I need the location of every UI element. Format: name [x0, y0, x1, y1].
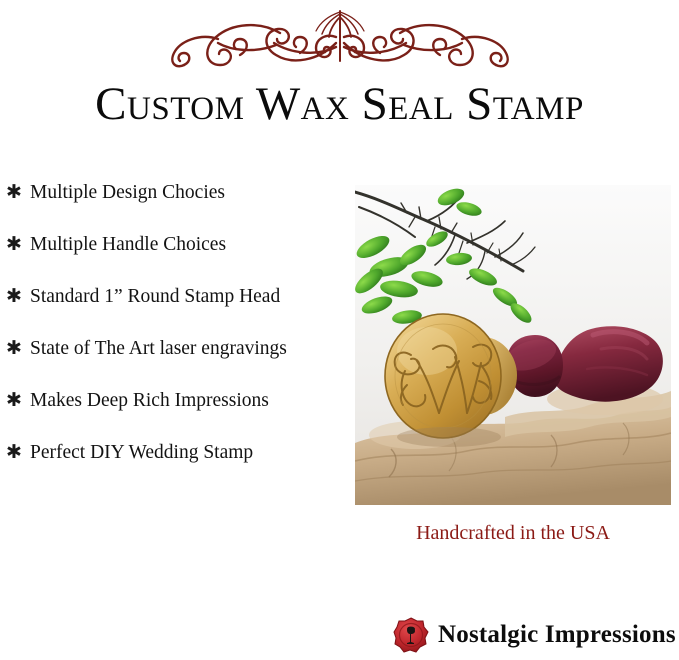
brand-logo: Nostalgic Impressions: [392, 616, 676, 654]
list-item: ✱ Perfect DIY Wedding Stamp: [6, 442, 350, 494]
feature-label: Makes Deep Rich Impressions: [30, 390, 269, 412]
feature-label: Standard 1” Round Stamp Head: [30, 286, 280, 308]
asterisk-bullet-icon: ✱: [6, 235, 30, 254]
asterisk-bullet-icon: ✱: [6, 183, 30, 202]
list-item: ✱ Standard 1” Round Stamp Head: [6, 286, 350, 338]
feature-label: State of The Art laser engravings: [30, 338, 287, 360]
feature-label: Perfect DIY Wedding Stamp: [30, 442, 253, 464]
feature-label: Multiple Handle Choices: [30, 234, 226, 256]
filigree-flourish-icon: [140, 3, 540, 73]
brand-name: Nostalgic Impressions: [438, 621, 676, 649]
photo-caption: Handcrafted in the USA: [355, 522, 671, 545]
product-photo-illustration: [355, 185, 671, 505]
asterisk-bullet-icon: ✱: [6, 443, 30, 462]
product-photo: [355, 185, 671, 505]
list-item: ✱ Makes Deep Rich Impressions: [6, 390, 350, 442]
list-item: ✱ Multiple Design Chocies: [6, 182, 350, 234]
stamp-handle: [502, 326, 663, 401]
feature-list: ✱ Multiple Design Chocies ✱ Multiple Han…: [6, 182, 350, 494]
list-item: ✱ Multiple Handle Choices: [6, 234, 350, 286]
asterisk-bullet-icon: ✱: [6, 287, 30, 306]
list-item: ✱ State of The Art laser engravings: [6, 338, 350, 390]
page-title: Custom Wax Seal Stamp: [0, 76, 679, 132]
wax-seal-icon: [392, 616, 430, 654]
feature-label: Multiple Design Chocies: [30, 182, 225, 204]
asterisk-bullet-icon: ✱: [6, 391, 30, 410]
asterisk-bullet-icon: ✱: [6, 339, 30, 358]
header-ornament: [0, 2, 679, 74]
